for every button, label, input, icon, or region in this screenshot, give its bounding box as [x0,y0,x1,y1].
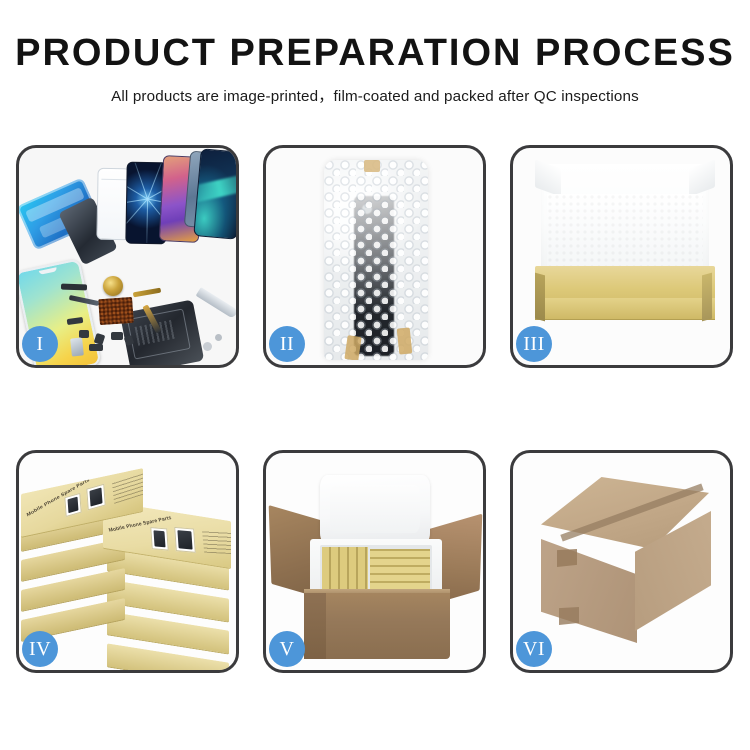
step-badge-1: I [22,326,58,362]
process-step-panel-2: II [263,145,486,368]
kraft-box-right-panel [702,273,712,322]
process-step-panel-5: V [263,450,486,673]
kraft-box-front-panel [535,298,715,320]
process-step-panel-1: I [16,145,239,368]
spec-text-lines-front [202,530,231,554]
bubble-texture [324,160,428,360]
display-window-back-1 [64,493,81,517]
camera-module [70,337,84,356]
process-step-panel-4: Mobile Phone Spare Parts Mobile Phone Sp… [16,450,239,673]
tweezers [196,287,236,319]
display-window-front-2 [174,527,196,553]
process-step-grid: I II III [16,145,734,679]
kraft-boxes-inside-right [370,549,430,589]
step-badge-5: V [269,631,305,667]
kraft-tape-top [364,160,380,172]
carton-tape-patch-1 [557,549,577,567]
step-badge-2: II [269,326,305,362]
process-step-panel-6: VI [510,450,733,673]
carton-left-face [541,539,637,643]
small-component-5 [89,344,103,351]
foam-sheet [547,194,703,270]
flex-cable-2 [133,288,161,298]
gold-disc-component [103,276,123,296]
process-step-panel-3: III [510,145,733,368]
page-title: PRODUCT PREPARATION PROCESS [0,34,750,72]
screw-2 [215,334,222,341]
component-bar [61,284,87,291]
bubble-wrap-bag [324,160,428,360]
carton-body [304,593,450,659]
kraft-box-left-panel [535,273,545,322]
display-window-back-2 [86,484,105,511]
white-foam-lid [320,475,430,545]
small-component-3 [111,332,123,340]
page-subtitle: All products are image-printed，film-coat… [0,84,750,106]
teal-swirl-phone [193,148,236,240]
foam-cavity [320,545,432,593]
page-header: PRODUCT PREPARATION PROCESS All products… [0,0,750,106]
spec-text-lines-back [112,472,143,504]
logic-board-chip [98,297,134,325]
step-badge-3: III [516,326,552,362]
kraft-tape-right [397,327,413,354]
kraft-boxes-inside-left [322,547,368,591]
step-badge-4: IV [22,631,58,667]
screw-1 [203,342,212,351]
carton-tape-patch-2 [559,607,579,625]
display-window-front-1 [150,527,168,551]
step-badge-6: VI [516,631,552,667]
